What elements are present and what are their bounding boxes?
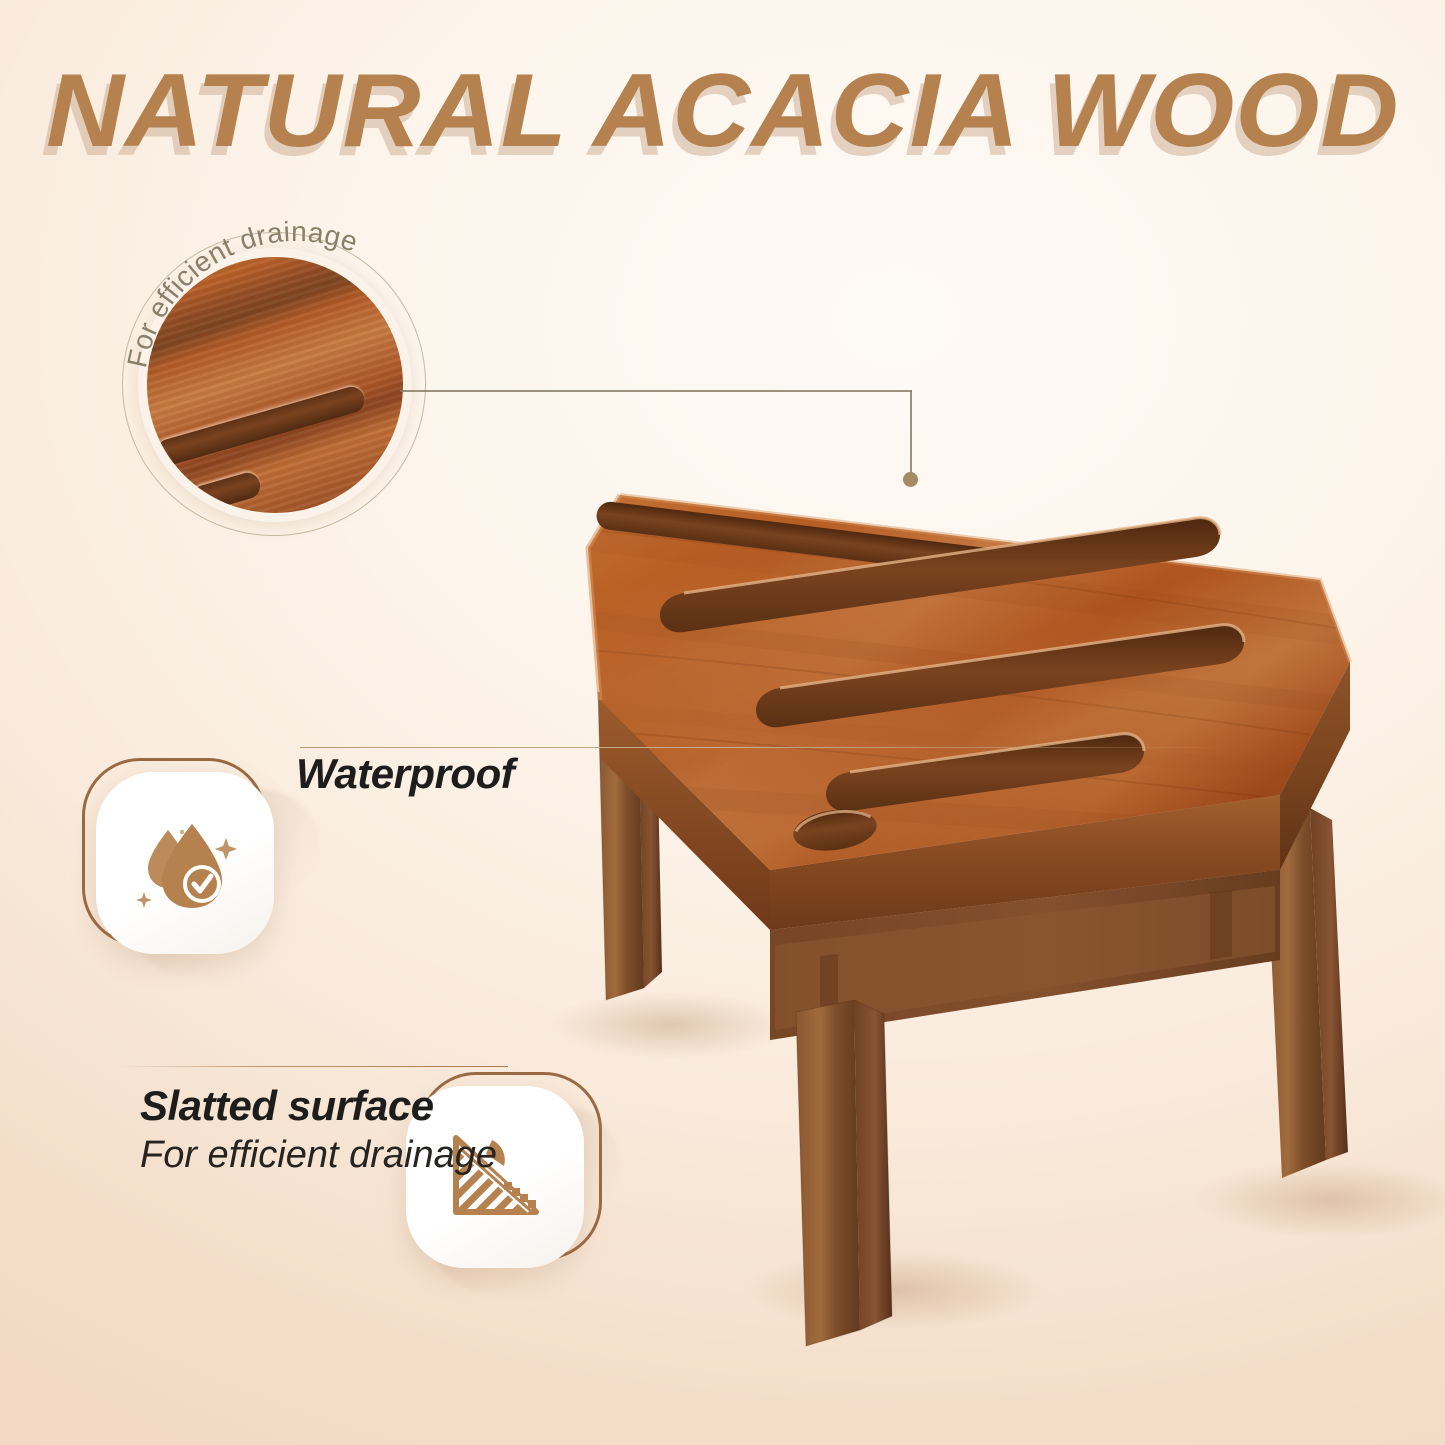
feature-waterproof-card[interactable] xyxy=(96,772,274,954)
feature-slatted-subtitle: For efficient drainage xyxy=(140,1134,497,1177)
leader-endpoint-dot xyxy=(903,472,918,487)
product-infographic: NATURAL ACACIA WOOD xyxy=(0,0,1445,1445)
feature-waterproof-rule xyxy=(300,747,1235,748)
leg-shadow-left xyxy=(550,991,790,1059)
feature-waterproof-text: Waterproof xyxy=(296,750,514,798)
wood-grain-texture xyxy=(147,257,403,513)
feature-slatted-title: Slatted surface xyxy=(140,1082,497,1130)
product-image xyxy=(520,400,1420,1400)
page-title: NATURAL ACACIA WOOD xyxy=(46,52,1400,171)
leader-horizontal xyxy=(400,390,912,392)
zoom-callout-circle xyxy=(138,248,412,522)
feature-slatted-rule xyxy=(118,1066,508,1067)
feature-slatted-text: Slatted surface For efficient drainage xyxy=(140,1082,497,1177)
shower-stool-illustration xyxy=(520,400,1420,1400)
leg-shadow-right xyxy=(1195,1162,1445,1238)
water-drops-check-icon xyxy=(130,808,240,918)
leader-vertical xyxy=(910,390,912,478)
headline-container: NATURAL ACACIA WOOD xyxy=(0,52,1445,171)
stool-leg-front xyxy=(796,1000,892,1346)
feature-waterproof-title: Waterproof xyxy=(296,750,514,798)
leg-shadow-front xyxy=(745,1250,1045,1330)
callout-closeup-photo xyxy=(147,257,403,513)
